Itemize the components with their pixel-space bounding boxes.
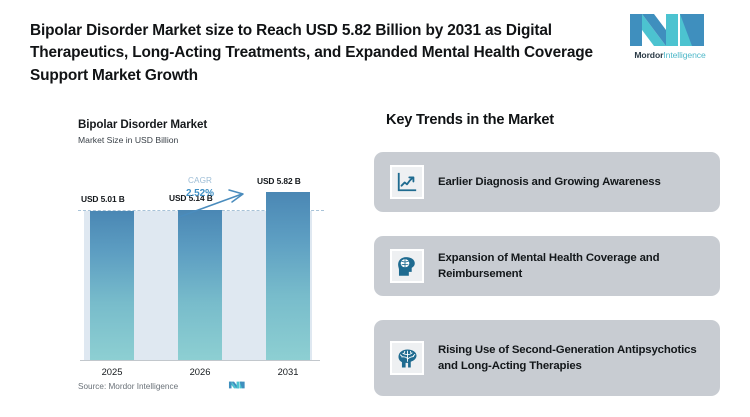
market-size-chart: Bipolar Disorder Market Market Size in U… [78,112,338,408]
chart-subtitle: Market Size in USD Billion [78,135,178,145]
tick-label-2026: 2026 [178,366,222,377]
tick-label-2031: 2031 [266,366,310,377]
chart-x-axis [80,360,320,361]
chart-source-text: Source: Mordor Intelligence [78,382,178,391]
cagr-arrow-icon [78,180,324,360]
tick-label-2025: 2025 [90,366,134,377]
trend-card-1[interactable]: Earlier Diagnosis and Growing Awareness [374,152,720,212]
mordor-m-mark-icon [616,10,720,50]
trend-card-2[interactable]: Expansion of Mental Health Coverage and … [374,236,720,296]
logo-wordmark: MordorIntelligence [620,50,720,60]
trend-card-3[interactable]: Rising Use of Second-Generation Antipsyc… [374,320,720,396]
source-mordor-m-mark-icon [226,378,248,392]
mordor-intelligence-logo: MordorIntelligence [616,10,720,64]
page-title: Bipolar Disorder Market size to Reach US… [30,20,600,87]
brain-icon [396,347,419,370]
cagr-annotation: CAGR 2.52% [78,180,324,360]
trend-icon-box-2 [390,249,424,283]
trend-card-1-text: Earlier Diagnosis and Growing Awareness [438,174,661,190]
key-trends-panel: Key Trends in the Market Earlier Diagnos… [374,108,720,408]
logo-word-intelligence: Intelligence [663,50,705,60]
trends-heading: Key Trends in the Market [386,112,554,128]
header: Bipolar Disorder Market size to Reach US… [0,0,750,92]
trend-icon-box-3 [390,341,424,375]
trend-card-3-text: Rising Use of Second-Generation Antipsyc… [438,342,708,374]
growth-chart-icon [396,171,418,193]
trend-card-2-text: Expansion of Mental Health Coverage and … [438,250,708,282]
logo-word-mordor: Mordor [634,50,663,60]
trend-icon-box-1 [390,165,424,199]
chart-plot-area: USD 5.01 B USD 5.14 B USD 5.82 B CAGR 2.… [78,180,324,360]
head-brain-icon [396,255,419,278]
chart-title: Bipolar Disorder Market [78,118,207,131]
